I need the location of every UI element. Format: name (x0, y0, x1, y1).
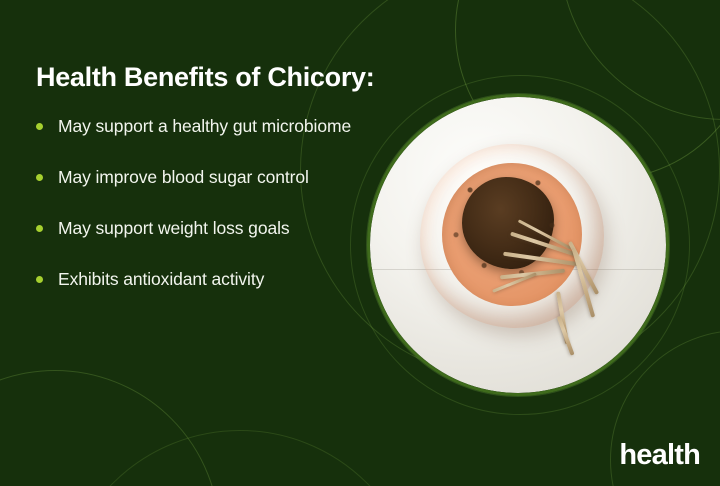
chicory-photo (367, 94, 669, 396)
list-item: Exhibits antioxidant activity (36, 267, 366, 292)
bullet-dot-icon (36, 174, 43, 181)
brand-logo: health (619, 441, 700, 470)
decorative-circle-4 (0, 370, 220, 486)
benefits-list: May support a healthy gut microbiome May… (36, 114, 366, 292)
decorative-circle-5 (60, 430, 420, 486)
decorative-circle-2 (560, 0, 720, 120)
page-title: Health Benefits of Chicory: (36, 60, 374, 94)
bullet-dot-icon (36, 276, 43, 283)
benefit-text: May support weight loss goals (58, 218, 290, 238)
chicory-benefits-infographic: Health Benefits of Chicory: May support … (0, 0, 720, 486)
benefit-text: Exhibits antioxidant activity (58, 269, 264, 289)
bullet-dot-icon (36, 225, 43, 232)
list-item: May support a healthy gut microbiome (36, 114, 366, 139)
bullet-dot-icon (36, 123, 43, 130)
list-item: May support weight loss goals (36, 216, 366, 241)
list-item: May improve blood sugar control (36, 165, 366, 190)
benefit-text: May improve blood sugar control (58, 167, 309, 187)
photo-surface (370, 97, 666, 393)
benefit-text: May support a healthy gut microbiome (58, 116, 351, 136)
